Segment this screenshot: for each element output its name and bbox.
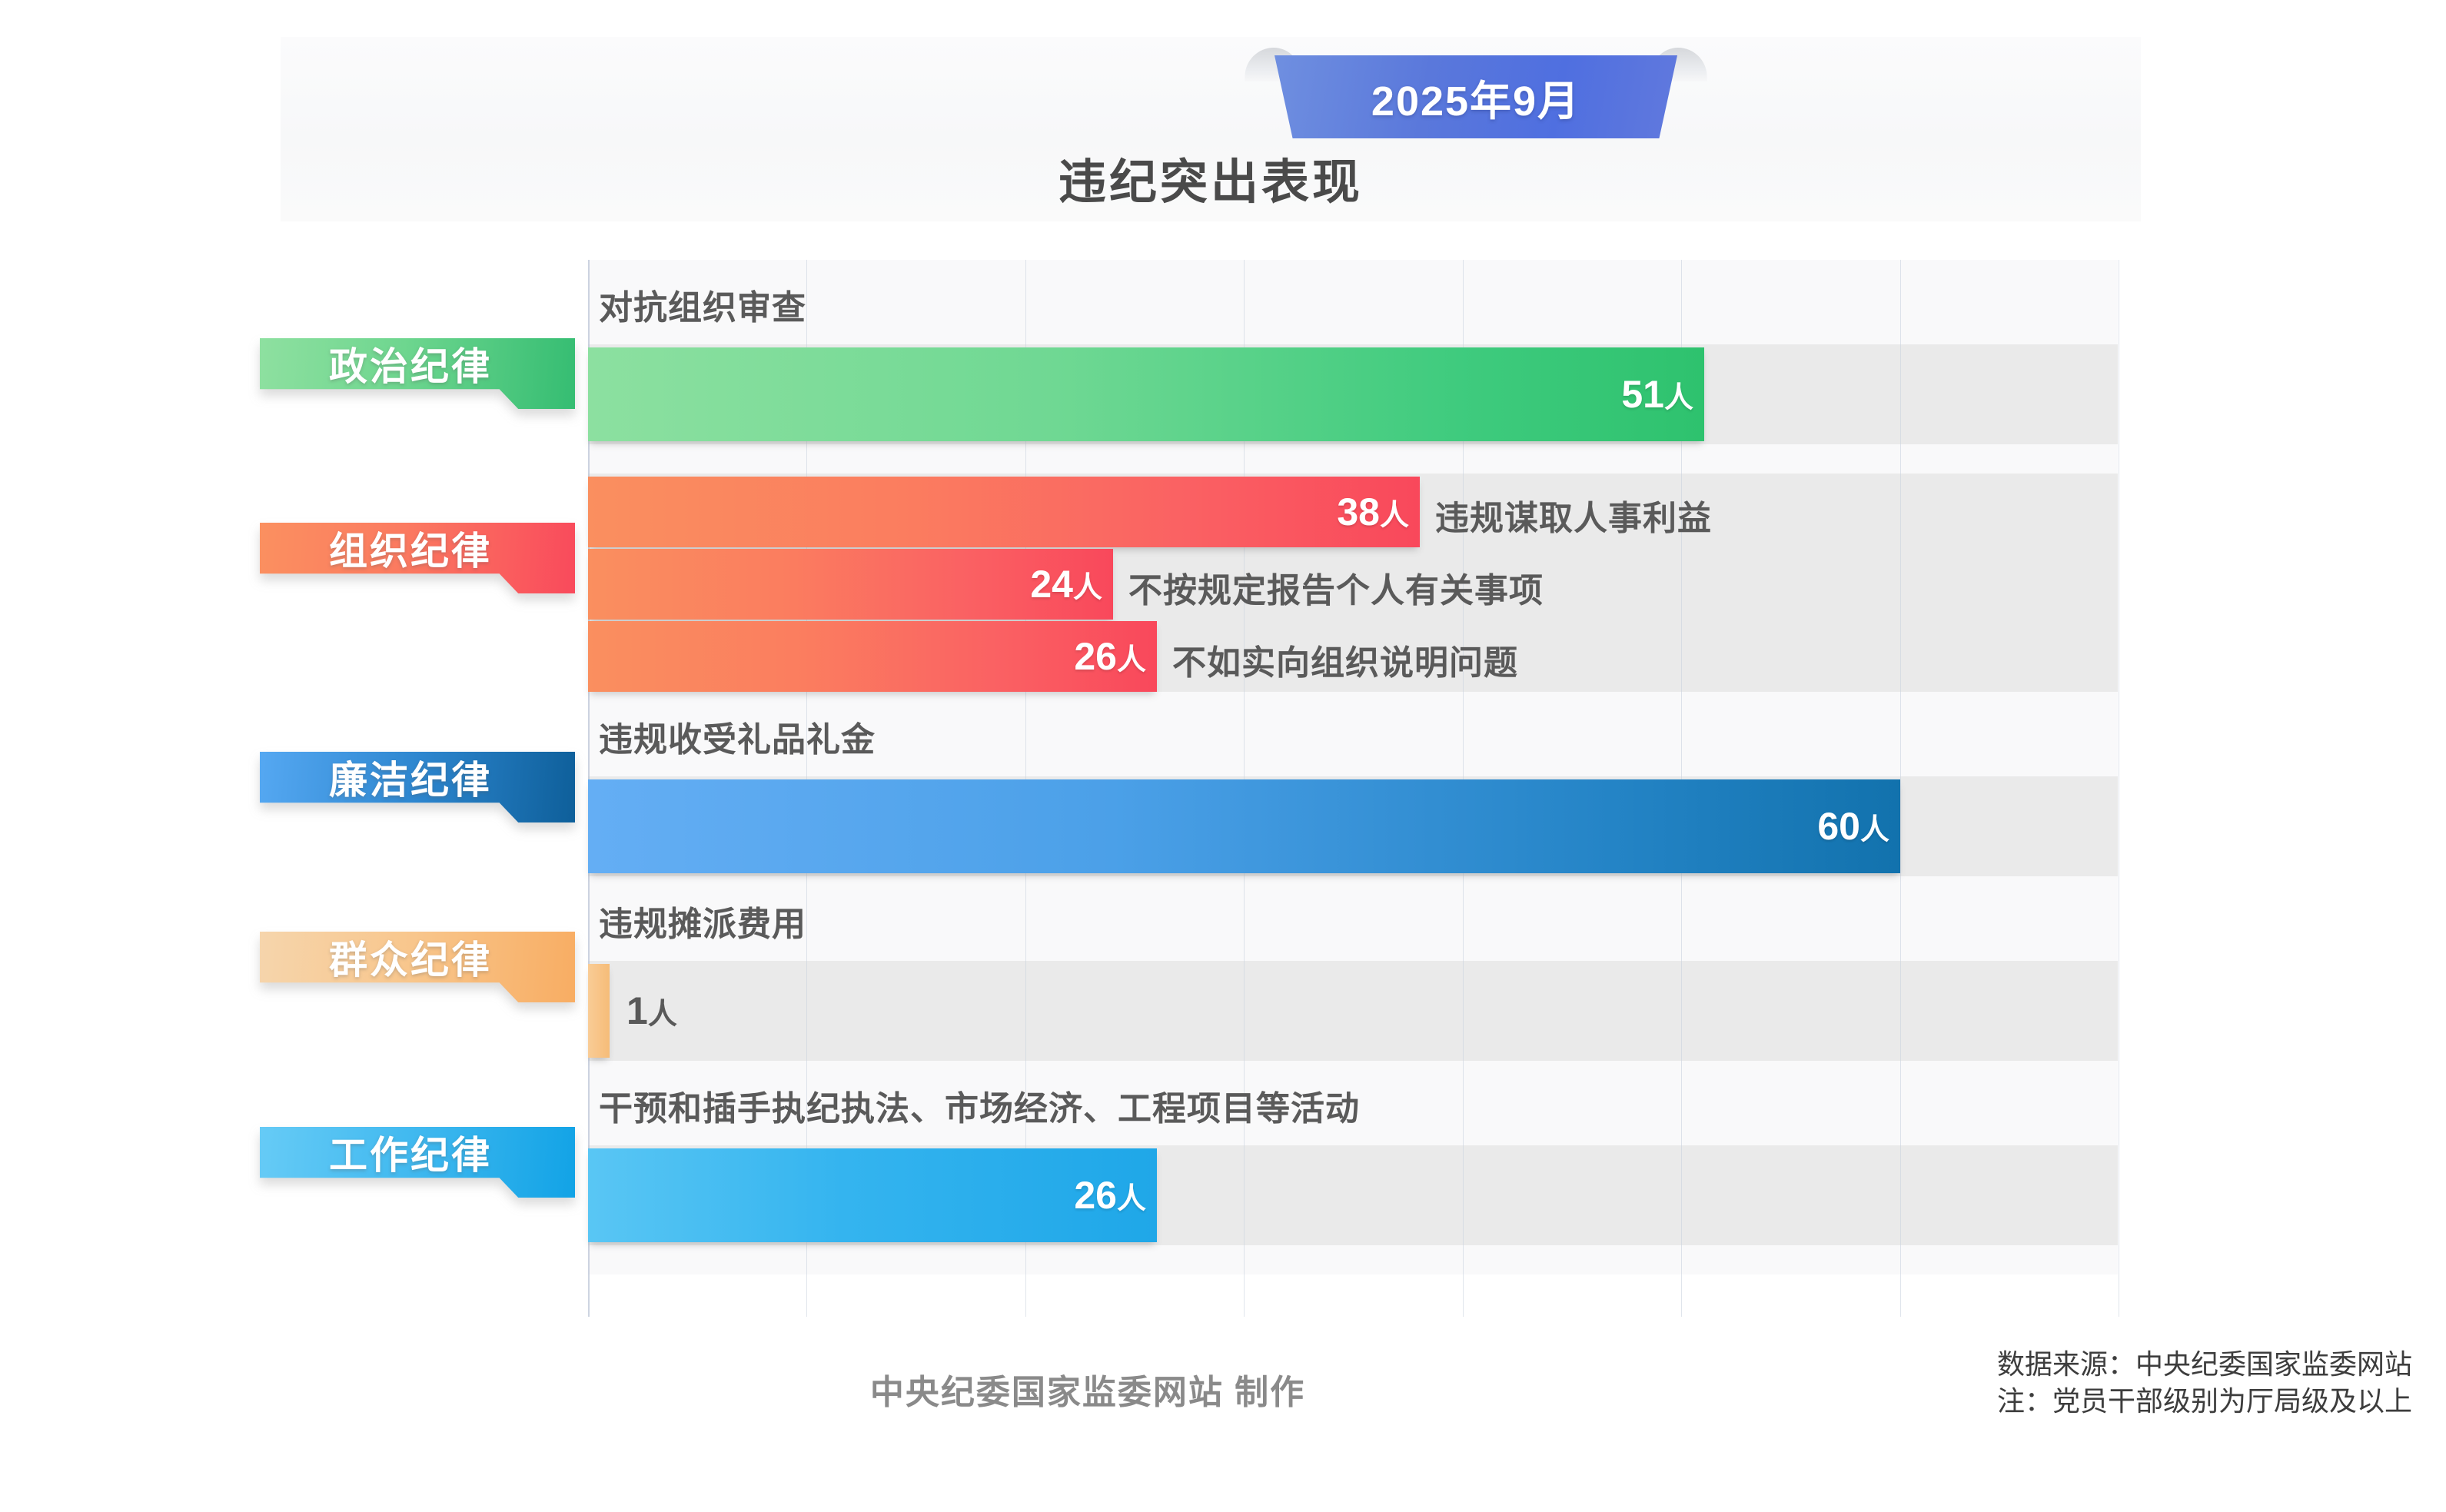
period-badge-label: 2025年9月 <box>1371 67 1580 128</box>
page-title: 违纪突出表现 <box>281 143 2141 212</box>
category-label: 群众纪律 <box>329 929 492 985</box>
category-ribbon-work[interactable]: 工作纪律 <box>260 1127 575 1198</box>
item-label-personnel-benefit: 违规谋取人事利益 <box>1435 490 1712 540</box>
category-ribbon-organization[interactable]: 组织纪律 <box>260 523 575 593</box>
bar-value-anti-investigation: 51人 <box>1621 372 1704 417</box>
row-band <box>588 260 2118 344</box>
source-note: 数据来源：中央纪委国家监委网站 注：党员干部级别为厅局级及以上 <box>1997 1347 2412 1420</box>
gridline-60 <box>1900 260 1901 1317</box>
bar-gifts-money[interactable]: 60人 <box>588 779 1900 873</box>
source-line: 数据来源：中央纪委国家监委网站 <box>1997 1347 2412 1384</box>
period-ribbon: 2025年9月 <box>1245 43 1707 143</box>
item-label-anti-investigation: 对抗组织审查 <box>599 280 806 329</box>
item-label-gifts-money: 违规收受礼品礼金 <box>599 712 876 761</box>
bar-anti-investigation[interactable]: 51人 <box>588 347 1704 441</box>
gridline-70 <box>2119 260 2119 1317</box>
item-label-untruthful-explanation: 不如实向组织说明问题 <box>1172 635 1518 684</box>
bar-value-illegal-apportionment: 1人 <box>626 989 677 1033</box>
category-label: 廉洁纪律 <box>329 749 492 805</box>
bar-illegal-apportionment[interactable] <box>588 964 610 1058</box>
row-band <box>588 444 2118 474</box>
category-ribbon-political[interactable]: 政治纪律 <box>260 338 575 409</box>
note-line: 注：党员干部级别为厅局级及以上 <box>1997 1384 2412 1421</box>
bar-value-unreported-matters: 24人 <box>1030 562 1113 606</box>
bar-value-personnel-benefit: 38人 <box>1337 490 1420 534</box>
category-ribbon-mass[interactable]: 群众纪律 <box>260 932 575 1002</box>
footer-credit: 中央纪委国家监委网站 制作 <box>588 1364 1587 1414</box>
bar-untruthful-explanation[interactable]: 26人 <box>588 621 1157 692</box>
item-label-interference: 干预和插手执纪执法、市场经济、工程项目等活动 <box>599 1081 1360 1130</box>
period-ribbon-body: 2025年9月 <box>1275 55 1677 138</box>
category-ribbon-integrity[interactable]: 廉洁纪律 <box>260 752 575 822</box>
bar-interference[interactable]: 26人 <box>588 1148 1157 1242</box>
row-band <box>588 961 2118 1061</box>
bar-value-gifts-money: 60人 <box>1817 804 1900 849</box>
chart-plot-area: 对抗组织审查 51人 38人 违规谋取人事利益 24人 不按规定报告个人有关事项… <box>588 260 2118 1274</box>
bar-unreported-matters[interactable]: 24人 <box>588 549 1113 620</box>
item-label-unreported-matters: 不按规定报告个人有关事项 <box>1128 563 1544 612</box>
category-label: 组织纪律 <box>329 520 492 576</box>
bar-value-interference: 26人 <box>1074 1173 1157 1218</box>
bar-personnel-benefit[interactable]: 38人 <box>588 477 1420 547</box>
row-band <box>588 876 2118 961</box>
item-label-illegal-apportionment: 违规摊派费用 <box>599 896 806 945</box>
category-label: 政治纪律 <box>329 336 492 391</box>
infographic-root: 2025年9月 违纪突出表现 政治纪律 组织纪律 廉洁纪律 群众纪律 工作纪律 <box>0 0 2446 1512</box>
bar-value-untruthful-explanation: 26人 <box>1074 634 1157 679</box>
row-band <box>588 1245 2118 1274</box>
category-label: 工作纪律 <box>329 1125 492 1180</box>
header-panel: 2025年9月 违纪突出表现 <box>281 37 2141 221</box>
